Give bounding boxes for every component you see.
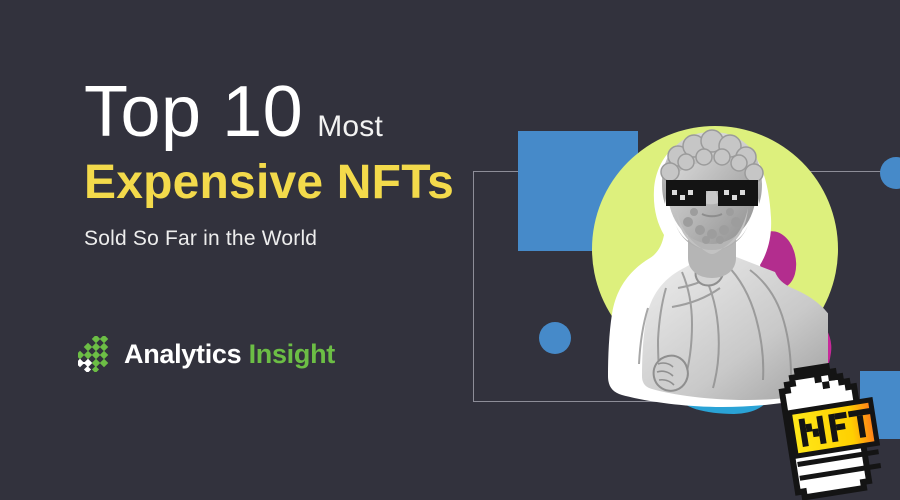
page-title: Top 10 — [84, 78, 303, 146]
headline-accent: Expensive NFTs — [84, 158, 484, 208]
dot-grid-icon — [78, 336, 112, 372]
infographic-banner: Top 10 Most Expensive NFTs Sold So Far i… — [0, 0, 900, 500]
headline-block: Top 10 Most Expensive NFTs Sold So Far i… — [84, 78, 484, 251]
brand-logo: Analytics Insight — [78, 336, 335, 372]
nft-pixel-card — [768, 348, 899, 500]
logo-word-analytics: Analytics — [124, 339, 241, 369]
logo-wordmark: Analytics Insight — [124, 339, 335, 370]
nft-card-illustration — [768, 348, 899, 500]
headline-tagline: Sold So Far in the World — [84, 227, 484, 251]
headline-row: Top 10 Most — [84, 78, 484, 146]
blue-dot-left — [539, 322, 571, 354]
artwork-composition — [440, 0, 900, 500]
headline-qualifier: Most — [317, 110, 383, 144]
logo-word-insight: Insight — [249, 339, 335, 369]
